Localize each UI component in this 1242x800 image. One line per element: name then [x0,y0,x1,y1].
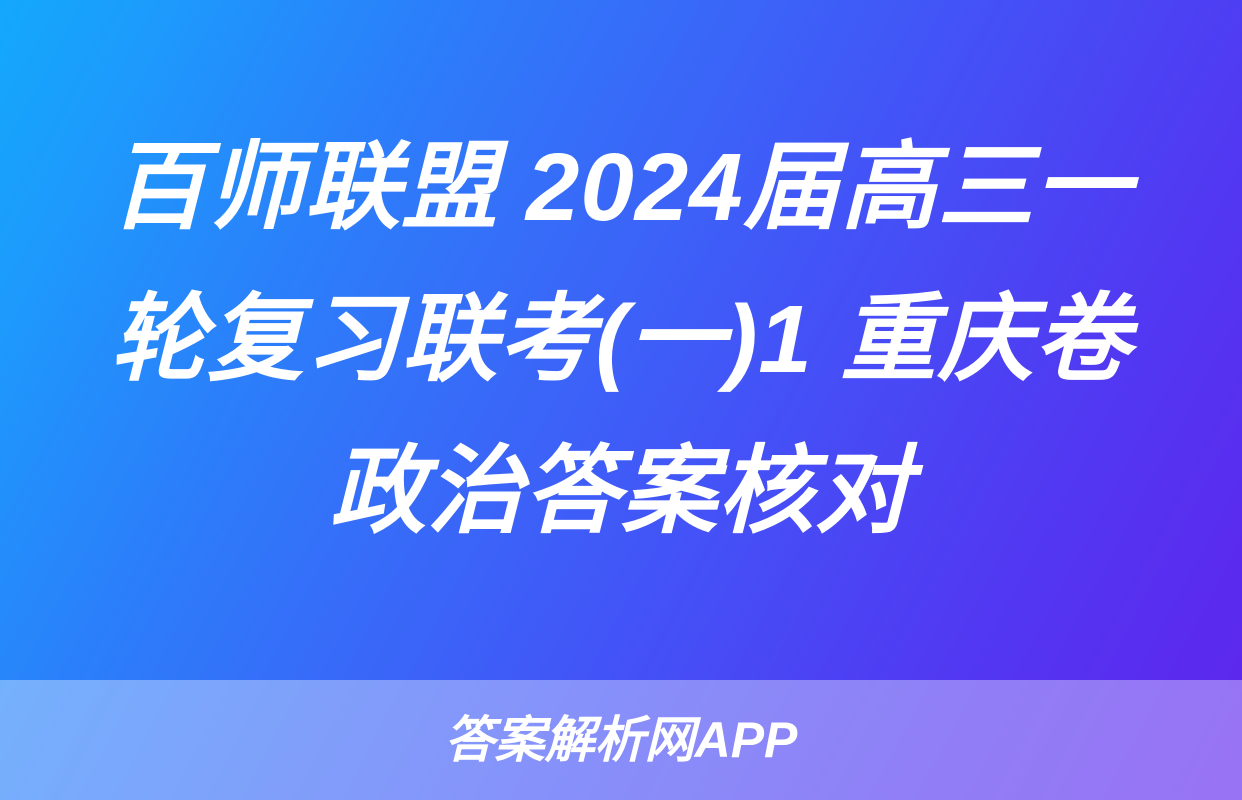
watermark-app-label: 答案解析网APP [445,715,798,765]
hero-section: 百师联盟 2024届高三一轮复习联考(一)1 重庆卷政治答案核对 [0,0,1242,680]
promo-card: 百师联盟 2024届高三一轮复习联考(一)1 重庆卷政治答案核对 答案解析网AP… [0,0,1242,800]
watermark-band: 答案解析网APP [0,680,1242,800]
page-title: 百师联盟 2024届高三一轮复习联考(一)1 重庆卷政治答案核对 [76,112,1166,568]
